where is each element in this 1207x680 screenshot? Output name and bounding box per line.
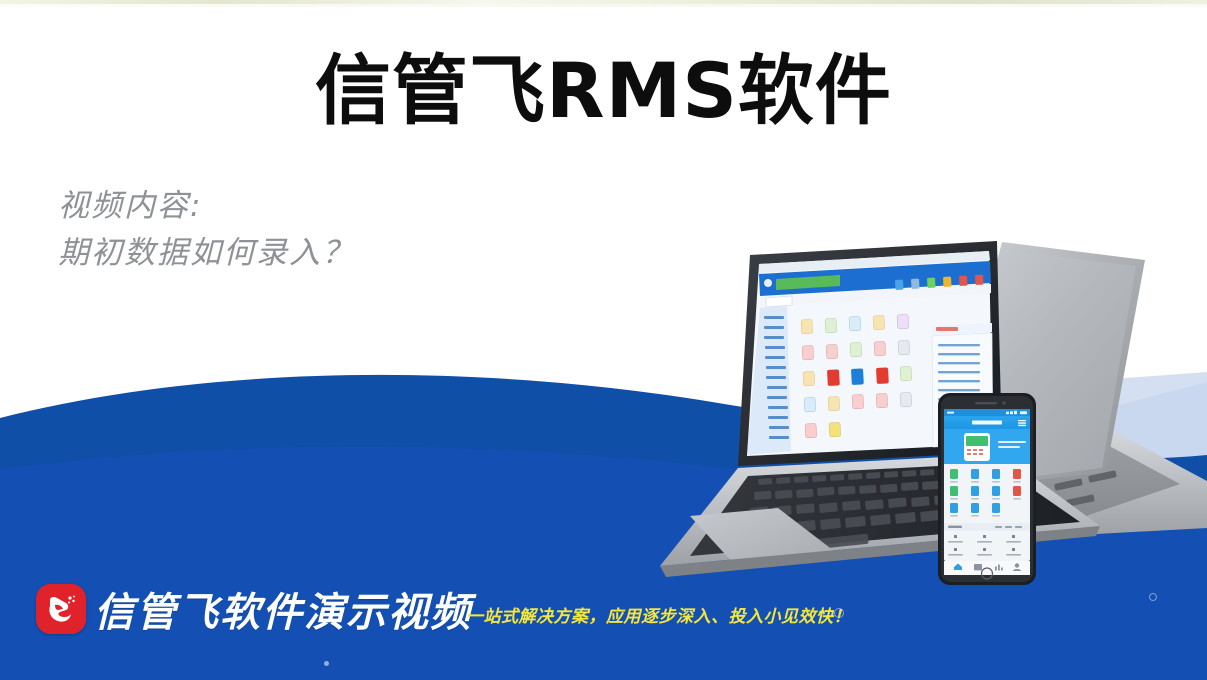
hamburger-icon (1018, 420, 1026, 426)
slide-canvas: 信管飞RMS软件 视频内容: 期初数据如何录入？ (0, 0, 1207, 680)
subtitle-line-2: 期初数据如何录入？ (58, 230, 355, 277)
page-title: 信管飞RMS软件 (0, 47, 1207, 134)
brand-name: 信管飞软件演示视频 (94, 580, 472, 638)
brand-tagline: 一站式解决方案，应用逐步深入、投入小见效快！ (466, 602, 851, 627)
device-mockups (540, 236, 1207, 592)
subtitle-block: 视频内容: 期初数据如何录入？ (58, 183, 355, 277)
smartphone-mockup (938, 393, 1036, 585)
xinguanfei-logo (36, 584, 86, 634)
subtitle-line-1: 视频内容: (58, 183, 355, 230)
